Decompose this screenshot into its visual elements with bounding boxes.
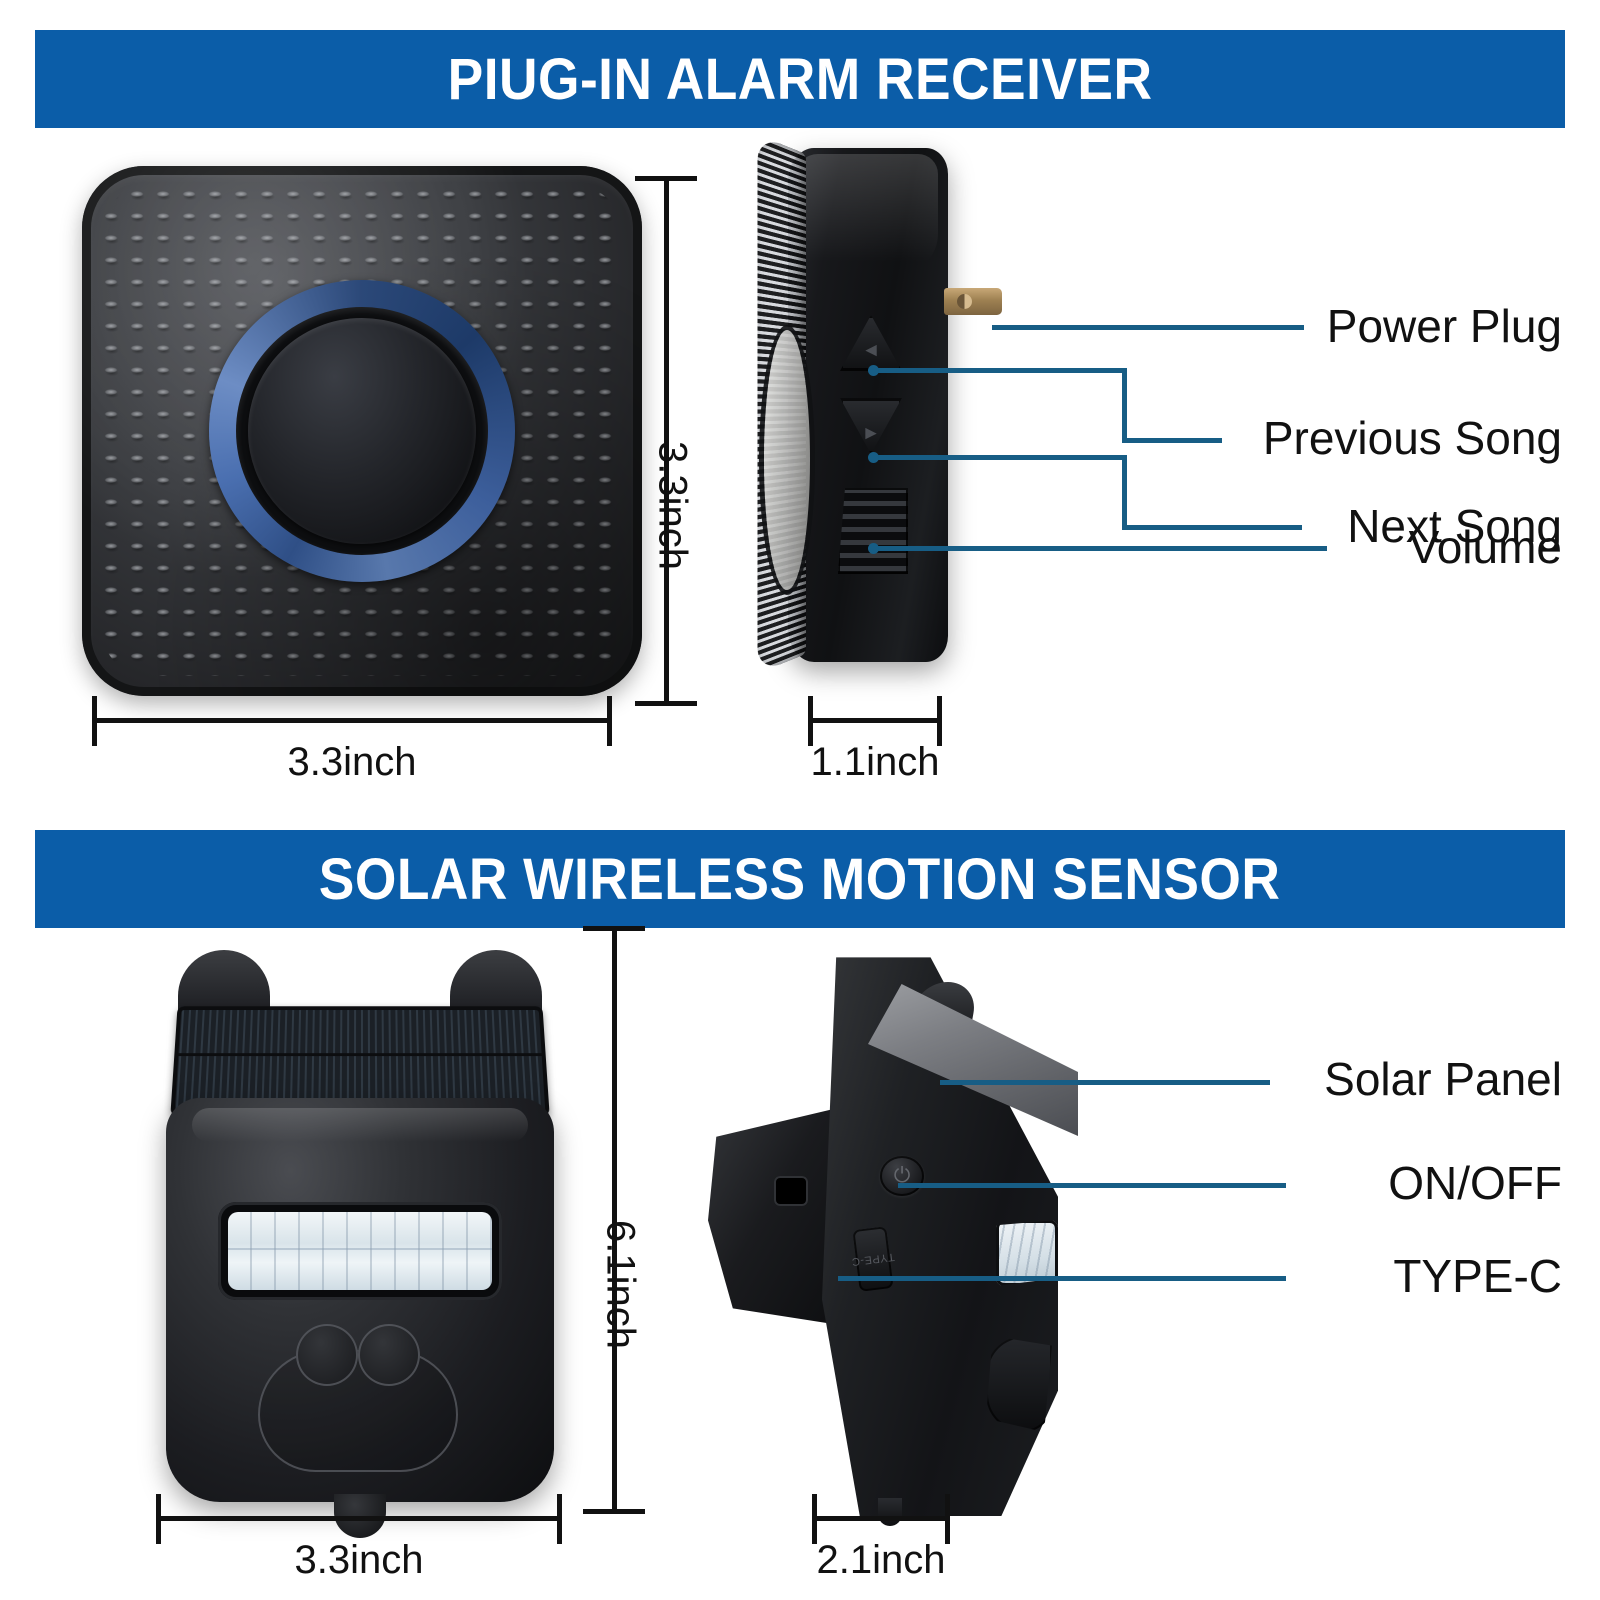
leader-next-song-seg1 xyxy=(872,455,1127,460)
dimension-label-receiver-height: 3.3inch xyxy=(650,441,695,570)
center-button[interactable] xyxy=(248,318,476,544)
leader-power-plug xyxy=(992,325,1304,330)
leader-volume xyxy=(872,546,1327,551)
leader-anchor-volume xyxy=(868,543,879,554)
banner-title-alarm-receiver: PIUG-IN ALARM RECEIVER xyxy=(448,46,1153,113)
leader-next-song-seg2 xyxy=(1122,455,1127,530)
dimension-receiver-depth: 1.1inch xyxy=(808,718,942,798)
leader-previous-song-seg2 xyxy=(1122,368,1127,443)
dimension-label-sensor-depth: 2.1inch xyxy=(812,1538,950,1583)
dimension-receiver-width: 3.3inch xyxy=(92,718,612,798)
motion-sensor-front-view xyxy=(160,946,560,1526)
section-motion-sensor: 6.1inch ⏻ TYPE-C Solar Panel ON/OFF TYPE xyxy=(0,928,1600,1600)
dimension-cap-right xyxy=(607,696,612,746)
dimension-line-horizontal xyxy=(808,718,942,723)
product-spec-infographic: PIUG-IN ALARM RECEIVER 3.3inch xyxy=(0,0,1600,1600)
dimension-label-receiver-depth: 1.1inch xyxy=(808,740,942,785)
on-off-button[interactable]: ⏻ xyxy=(880,1156,924,1196)
trefoil-lobe-right xyxy=(358,1324,420,1386)
lower-housing-detail xyxy=(986,1336,1052,1432)
dimension-sensor-depth: 2.1inch xyxy=(812,1516,950,1596)
section-alarm-receiver: 3.3inch ◄ ► xyxy=(0,128,1600,828)
sensor-housing xyxy=(166,1098,554,1502)
leader-anchor-next-song xyxy=(868,452,879,463)
callout-label-on-off: ON/OFF xyxy=(1388,1160,1562,1206)
dimension-label-sensor-height: 6.1inch xyxy=(598,1220,643,1349)
trefoil-body xyxy=(258,1350,458,1472)
pir-fresnel-lens xyxy=(228,1212,492,1290)
leader-anchor-previous-song xyxy=(868,365,879,376)
banner-title-motion-sensor: SOLAR WIRELESS MOTION SENSOR xyxy=(319,846,1281,913)
leader-type-c xyxy=(838,1276,1286,1281)
callout-label-power-plug: Power Plug xyxy=(1327,303,1562,349)
bracket-slot xyxy=(774,1176,808,1206)
trefoil-mount-outline xyxy=(258,1350,458,1472)
dimension-line-horizontal xyxy=(156,1516,562,1521)
dimension-receiver-height: 3.3inch xyxy=(630,176,702,706)
side-button-edge xyxy=(764,330,810,590)
motion-sensor-side-view: ⏻ TYPE-C xyxy=(700,938,1100,1528)
trefoil-lobe-left xyxy=(296,1324,358,1386)
section-banner-motion-sensor: SOLAR WIRELESS MOTION SENSOR xyxy=(35,830,1565,928)
type-c-port-label: TYPE-C xyxy=(851,1250,895,1267)
leader-on-off xyxy=(898,1183,1286,1188)
dimension-cap-right xyxy=(557,1494,562,1544)
callout-label-solar-panel: Solar Panel xyxy=(1324,1056,1562,1102)
leader-previous-song-seg3 xyxy=(1122,438,1222,443)
volume-control[interactable] xyxy=(838,488,908,574)
dimension-label-sensor-width: 3.3inch xyxy=(156,1538,562,1583)
dimension-sensor-height: 6.1inch xyxy=(578,926,650,1514)
power-plug-prong xyxy=(944,288,1002,315)
dimension-line-horizontal xyxy=(812,1516,950,1521)
callout-label-type-c: TYPE-C xyxy=(1393,1253,1562,1299)
dimension-cap-right xyxy=(937,696,942,746)
dimension-line-horizontal xyxy=(92,718,612,723)
dimension-cap-bottom xyxy=(635,701,697,706)
callout-label-volume-text: Volume xyxy=(1409,524,1562,570)
dimension-cap-right xyxy=(945,1494,950,1544)
alarm-receiver-side-view: ◄ ► xyxy=(752,140,952,670)
dimension-sensor-width: 3.3inch xyxy=(156,1516,562,1596)
pir-lens-frame xyxy=(218,1202,502,1300)
section-banner-alarm-receiver: PIUG-IN ALARM RECEIVER xyxy=(35,30,1565,128)
leader-previous-song-seg1 xyxy=(872,368,1127,373)
callout-label-previous-song: Previous Song xyxy=(1263,415,1562,461)
dimension-label-receiver-width: 3.3inch xyxy=(92,740,612,785)
leader-solar-panel xyxy=(940,1080,1270,1085)
alarm-receiver-front-view xyxy=(82,166,642,696)
dimension-cap-bottom xyxy=(583,1509,645,1514)
leader-next-song-seg3 xyxy=(1122,525,1302,530)
